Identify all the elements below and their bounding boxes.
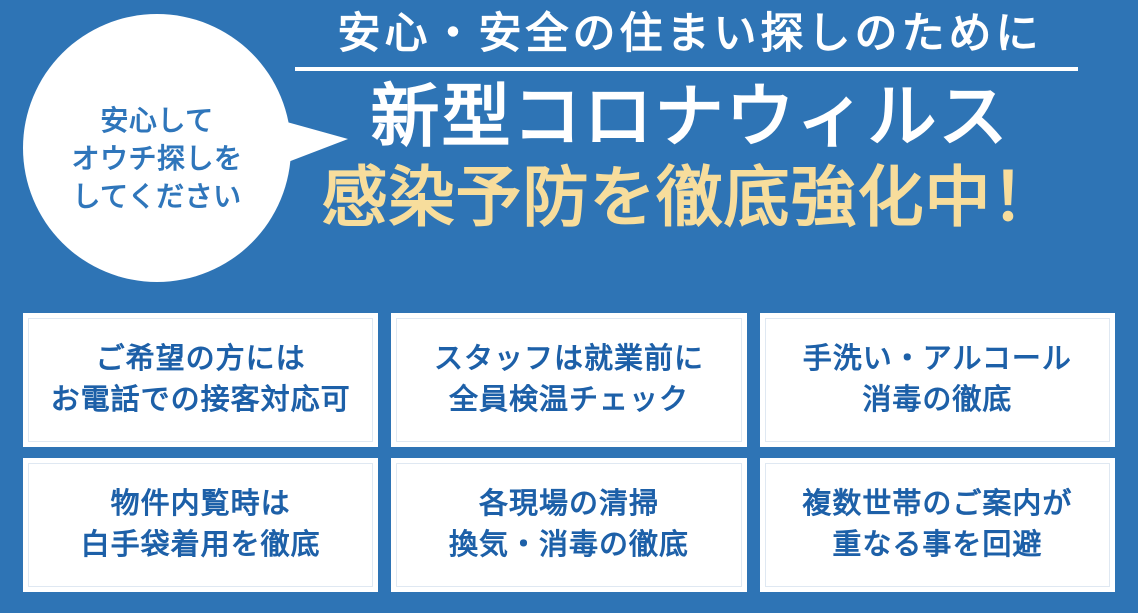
headline-block: 安心・安全の住まい探しのために 新型コロナウィルス 感染予防を徹底強化中！ [295, 10, 1085, 233]
measure-card-text: 各現場の清掃 換気・消毒の徹底 [449, 484, 689, 566]
headline-subtitle: 感染予防を徹底強化中！ [295, 161, 1085, 234]
measure-card-line-2: 白手袋着用を徹底 [81, 525, 321, 566]
measure-card: ご希望の方には お電話での接客対応可 [23, 313, 378, 447]
speech-bubble-line-1: 安心して [23, 102, 291, 140]
measure-card-line-2: 消毒の徹底 [803, 380, 1072, 421]
measure-card-text: 手洗い・アルコール 消毒の徹底 [803, 339, 1072, 421]
measure-card-text: スタッフは就業前に 全員検温チェック [434, 339, 704, 421]
measure-card: 複数世帯のご案内が 重なる事を回避 [760, 458, 1115, 592]
measure-card-line-2: 重なる事を回避 [802, 525, 1072, 566]
measure-card: 手洗い・アルコール 消毒の徹底 [760, 313, 1115, 447]
measure-card: スタッフは就業前に 全員検温チェック [391, 313, 746, 447]
headline-kicker: 安心・安全の住まい探しのために [295, 10, 1085, 61]
speech-bubble-line-2: オウチ探しを [23, 140, 291, 178]
measure-card-line-1: 各現場の清掃 [449, 484, 689, 525]
measure-card-text: 複数世帯のご案内が 重なる事を回避 [802, 484, 1072, 566]
measure-card-line-1: 手洗い・アルコール [803, 339, 1072, 380]
measure-card: 物件内覧時は 白手袋着用を徹底 [23, 458, 378, 592]
measures-grid: ご希望の方には お電話での接客対応可 スタッフは就業前に 全員検温チェック 手洗… [23, 313, 1115, 592]
covid-prevention-banner: 安心して オウチ探しを してください 安心・安全の住まい探しのために 新型コロナ… [0, 0, 1138, 613]
measure-card-line-1: ご希望の方には [51, 339, 351, 380]
measure-card-line-1: 物件内覧時は [81, 484, 321, 525]
headline-main-title: 新型コロナウィルス [295, 79, 1085, 155]
speech-bubble-text: 安心して オウチ探しを してください [23, 102, 291, 215]
measure-card-line-1: スタッフは就業前に [434, 339, 704, 380]
measure-card: 各現場の清掃 換気・消毒の徹底 [391, 458, 746, 592]
speech-bubble-line-3: してください [23, 178, 291, 216]
measure-card-line-2: 換気・消毒の徹底 [449, 525, 689, 566]
measure-card-line-2: 全員検温チェック [434, 380, 704, 421]
measure-card-line-1: 複数世帯のご案内が [802, 484, 1072, 525]
measure-card-text: ご希望の方には お電話での接客対応可 [51, 339, 351, 421]
measure-card-text: 物件内覧時は 白手袋着用を徹底 [81, 484, 321, 566]
speech-bubble: 安心して オウチ探しを してください [23, 14, 333, 292]
headline-divider [295, 67, 1078, 71]
measure-card-line-2: お電話での接客対応可 [51, 380, 351, 421]
